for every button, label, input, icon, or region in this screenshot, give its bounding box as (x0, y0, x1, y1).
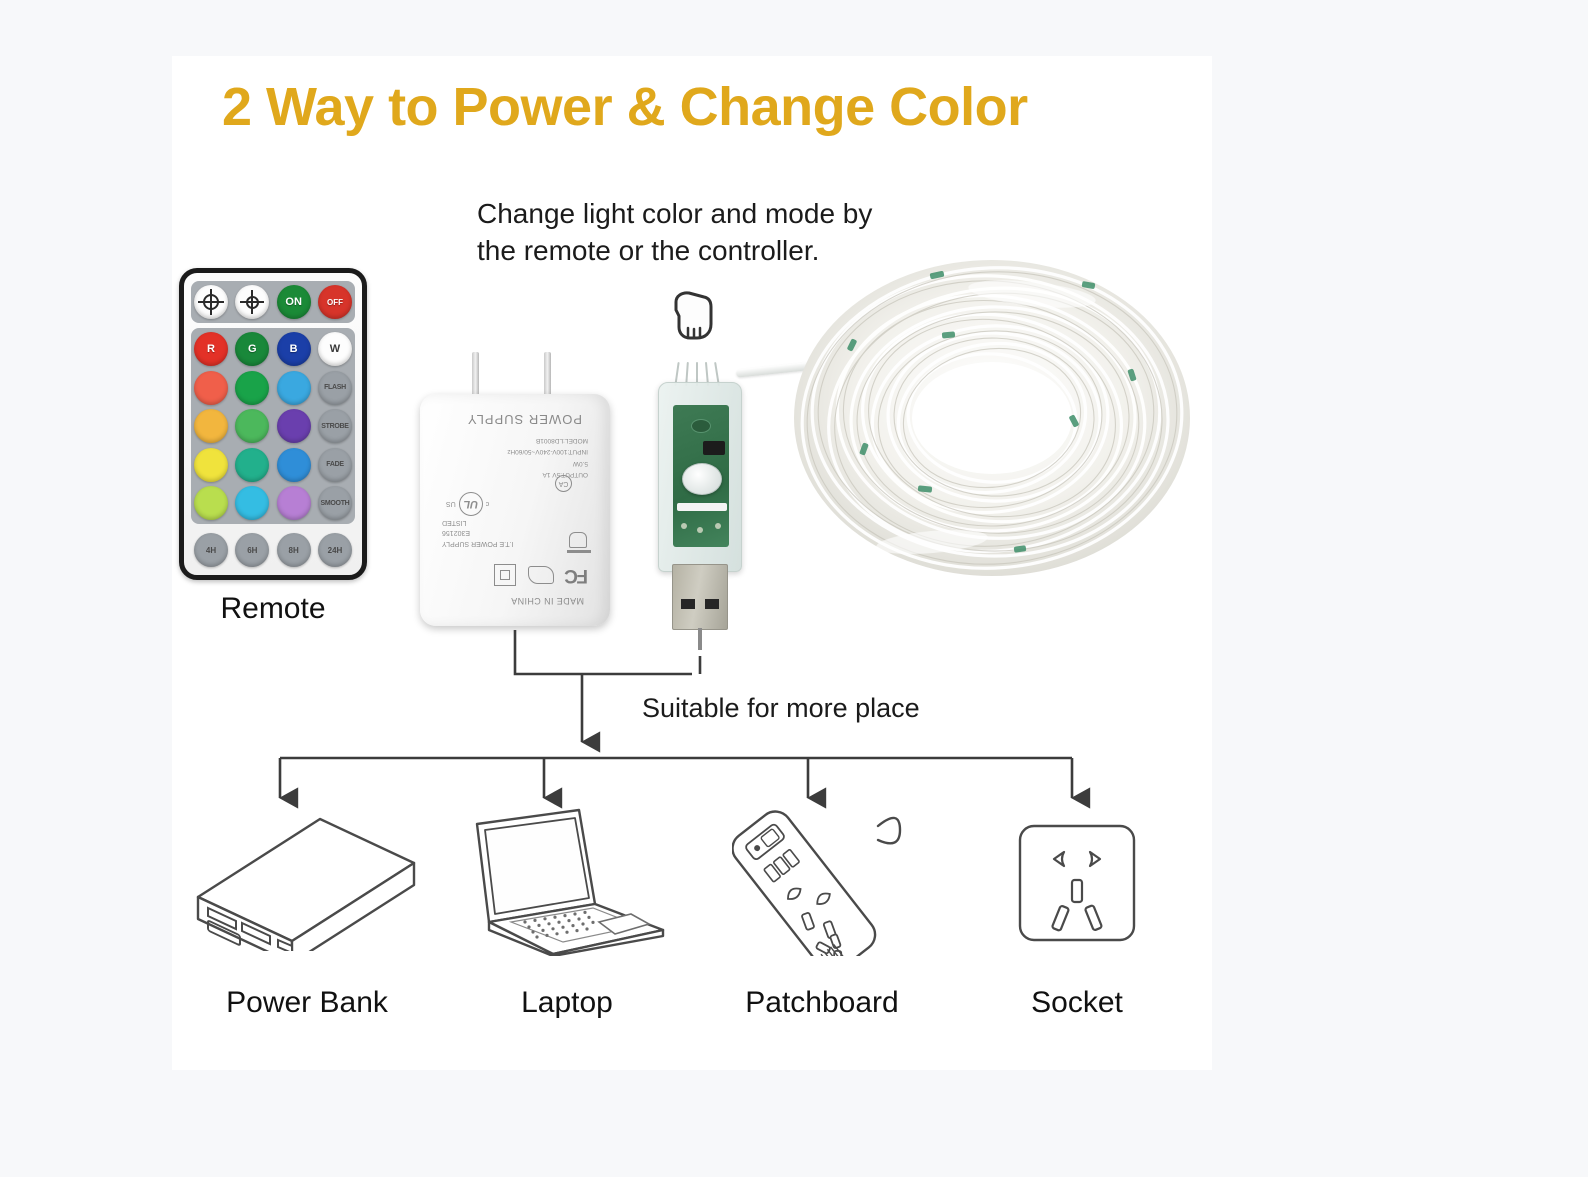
brightness-down-button[interactable] (194, 285, 228, 319)
adapter-brand-text: POWER SUPPLY (467, 412, 582, 427)
fcc-icon: FC (566, 564, 588, 586)
ul-c-mark: c (486, 501, 490, 508)
color-button-orange-red[interactable] (194, 371, 228, 405)
power-bank-icon (192, 801, 422, 951)
timer-button-8h[interactable]: 8H (277, 533, 311, 567)
mode-button-flash[interactable]: FLASH (318, 371, 352, 405)
adapter-label-face: MADE IN CHINA FC I.T.E POWER SUPPLY E302… (436, 408, 594, 612)
color-button-sky-blue[interactable] (277, 371, 311, 405)
socket-icon (1012, 818, 1142, 948)
sun-large-icon (246, 296, 259, 309)
timer-button-24h[interactable]: 24H (318, 533, 352, 567)
color-button-purple[interactable] (277, 409, 311, 443)
patchboard-label: Patchboard (722, 986, 922, 1020)
color-button-green[interactable]: G (235, 332, 269, 366)
content-card: 2 Way to Power & Change Color Change lig… (172, 56, 1212, 1070)
infographic-stage: 2 Way to Power & Change Color Change lig… (0, 0, 1588, 1177)
controller-housing (658, 382, 742, 572)
controller-pcb (673, 405, 729, 547)
usb-tail-line (698, 628, 702, 650)
patchboard-icon (732, 786, 912, 956)
remote-top-row: ON OFF (191, 281, 355, 323)
remote-label: Remote (179, 592, 367, 626)
ir-receiver-icon (691, 419, 711, 433)
plug-prong-right (544, 352, 551, 396)
power-off-button[interactable]: OFF (318, 285, 352, 319)
color-button-lilac[interactable] (277, 486, 311, 520)
mode-button-strobe[interactable]: STROBE (318, 409, 352, 443)
coil-strands (782, 246, 1202, 586)
power-on-button[interactable]: ON (277, 285, 311, 319)
color-button-yellow-green[interactable] (194, 486, 228, 520)
brightness-up-button[interactable] (235, 285, 269, 319)
usb-controller (652, 382, 748, 682)
mode-button-fade[interactable]: FADE (318, 448, 352, 482)
color-button-white[interactable]: W (318, 332, 352, 366)
color-button-green-light[interactable] (235, 409, 269, 443)
adapter-supply-text: I.T.E POWER SUPPLY E302156 LISTED (442, 517, 513, 549)
color-button-amber[interactable] (194, 409, 228, 443)
plug-prong-left (472, 352, 479, 396)
adapter-input: INPUT:100V-240V~50/60Hz (507, 446, 588, 457)
ul-logo-icon: UL (459, 492, 483, 516)
hand-pointer-icon (668, 288, 720, 344)
color-button-blue[interactable]: B (277, 332, 311, 366)
led-string-light-coil (782, 246, 1202, 586)
adapter-output: OUTPUT:5V 1A (507, 469, 588, 480)
adapter-model: MODEL:LD8001B (507, 435, 588, 446)
laptop-label: Laptop (472, 986, 662, 1020)
laptop-icon (467, 796, 667, 956)
adapter-body: MADE IN CHINA FC I.T.E POWER SUPPLY E302… (420, 394, 610, 626)
color-button-cyan[interactable] (235, 486, 269, 520)
remote-color-pad: R G B W FLASH STROBE FADE (191, 328, 355, 524)
color-button-yellow[interactable] (194, 448, 228, 482)
adapter-power: 5.0W (507, 457, 588, 468)
remote-timer-row: 4H 6H 8H 24H (191, 529, 355, 569)
controller-chip (703, 441, 725, 455)
timer-button-6h[interactable]: 6H (235, 533, 269, 567)
adapter-certification-marks: FC (494, 564, 588, 586)
power-bank-label: Power Bank (192, 986, 422, 1020)
controller-push-button[interactable] (682, 463, 722, 495)
power-adapter: MADE IN CHINA FC I.T.E POWER SUPPLY E302… (420, 394, 610, 626)
adapter-supply-line2: E302156 (442, 527, 513, 538)
ce-mark-icon (528, 566, 554, 584)
controller-white-bar (677, 503, 727, 511)
sun-small-icon (203, 294, 219, 310)
usb-a-connector (672, 564, 728, 630)
page-title: 2 Way to Power & Change Color (222, 76, 1162, 138)
socket-label: Socket (1012, 986, 1142, 1020)
timer-button-4h[interactable]: 4H (194, 533, 228, 567)
color-button-red[interactable]: R (194, 332, 228, 366)
adapter-made-in-text: MADE IN CHINA (511, 596, 584, 606)
ul-mark-group: c UL US (446, 492, 489, 516)
adapter-listed-text: LISTED (442, 517, 513, 528)
remote-control[interactable]: ON OFF R G B W FLASH STROBE (179, 268, 367, 580)
adapter-specs: OUTPUT:5V 1A 5.0W INPUT:100V-240V~50/60H… (507, 435, 588, 481)
mode-button-smooth[interactable]: SMOOTH (318, 486, 352, 520)
class2-icon (494, 564, 516, 586)
color-button-blue-mid[interactable] (277, 448, 311, 482)
caption-suitable-for-more-place: Suitable for more place (642, 691, 920, 727)
adapter-supply-line1: I.T.E POWER SUPPLY (442, 538, 513, 549)
color-button-teal[interactable] (235, 448, 269, 482)
ul-us-mark: US (446, 501, 456, 508)
color-button-green-mid[interactable] (235, 371, 269, 405)
